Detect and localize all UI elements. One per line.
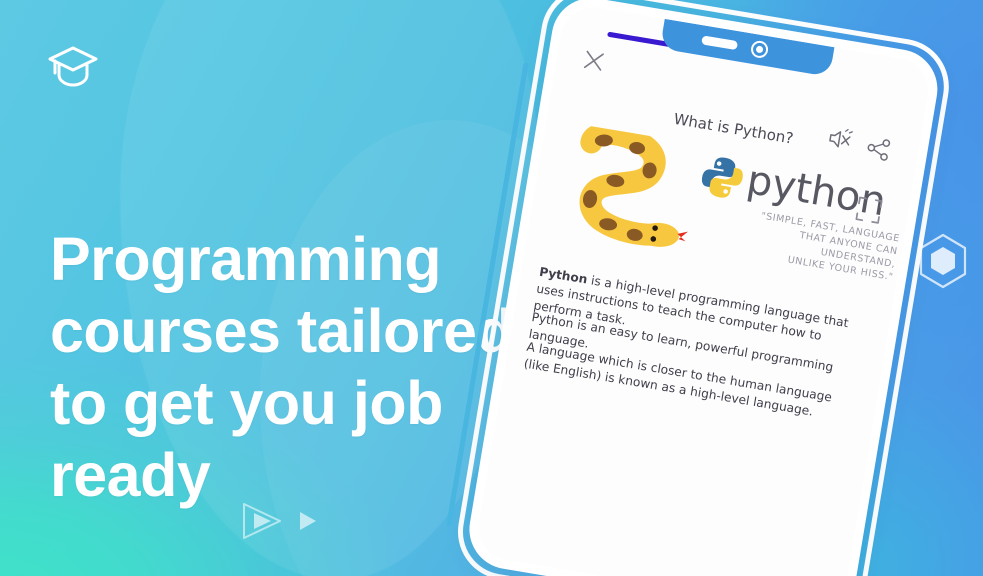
promo-banner: Programming courses tailored to get you … bbox=[0, 0, 983, 576]
speaker-mute-icon[interactable] bbox=[825, 125, 855, 153]
earpiece-speaker-icon bbox=[701, 35, 738, 50]
python-logo-icon bbox=[696, 151, 749, 204]
play-arrows-decoration bbox=[240, 500, 330, 542]
graduation-cap-icon bbox=[46, 42, 100, 90]
play-outline-icon bbox=[244, 504, 280, 538]
play-filled-icon bbox=[300, 512, 316, 530]
phone-screen: What is Python? bbox=[474, 2, 933, 576]
close-x-icon[interactable] bbox=[581, 48, 606, 73]
front-camera-icon bbox=[752, 42, 767, 57]
share-icon[interactable] bbox=[865, 136, 892, 162]
snake-illustration bbox=[552, 123, 702, 265]
fullscreen-expand-icon[interactable] bbox=[854, 195, 884, 225]
phone-mockup: What is Python? bbox=[451, 0, 983, 576]
